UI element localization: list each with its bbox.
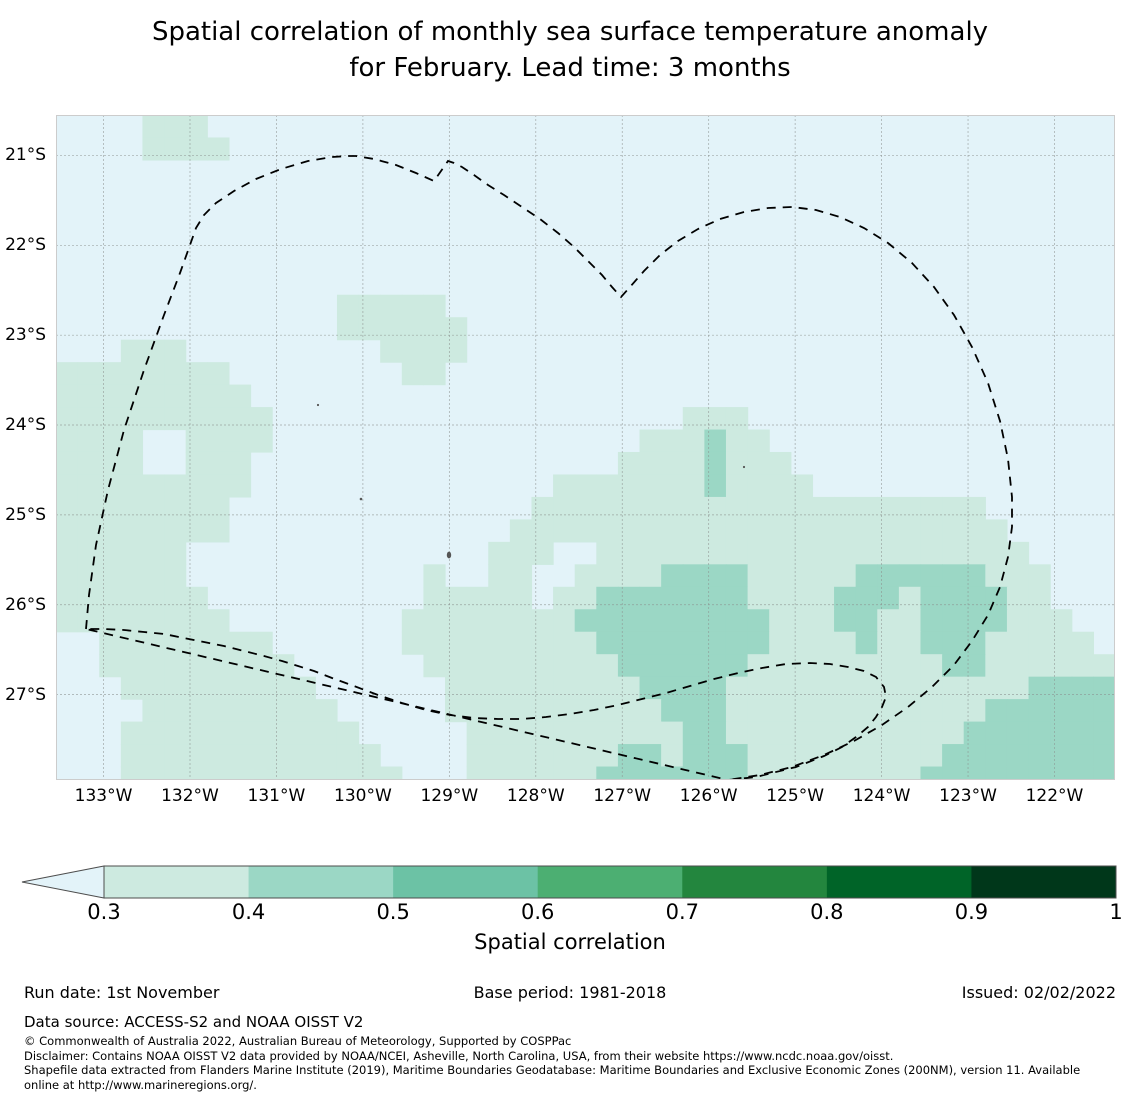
heatmap-cell xyxy=(812,609,834,632)
heatmap-cell xyxy=(380,317,402,340)
heatmap-cell xyxy=(337,317,359,340)
heatmap-cell xyxy=(423,317,445,340)
heatmap-cell xyxy=(769,497,791,520)
heatmap-cell xyxy=(920,564,942,587)
heatmap-cell xyxy=(553,767,575,780)
heatmap-cell xyxy=(531,497,553,520)
heatmap-cell xyxy=(1007,632,1029,655)
heatmap-cell xyxy=(423,564,445,587)
heatmap-cell xyxy=(791,677,813,700)
heatmap-cell xyxy=(726,430,748,453)
heatmap-cell xyxy=(56,519,78,542)
heatmap-cell xyxy=(575,632,597,655)
heatmap-cell xyxy=(142,564,164,587)
heatmap-cell xyxy=(121,430,143,453)
heatmap-cell xyxy=(531,609,553,632)
heatmap-cell xyxy=(1007,744,1029,767)
colorbar-extend-min-arrow xyxy=(22,866,104,898)
heatmap-cell xyxy=(359,767,381,780)
colorbar-band xyxy=(104,866,249,898)
heatmap-cell xyxy=(661,452,683,475)
heatmap-cell xyxy=(575,474,597,497)
heatmap-cell xyxy=(294,744,316,767)
heatmap-cell xyxy=(877,587,899,610)
y-tick-label: 22°S xyxy=(5,235,46,255)
heatmap-cell xyxy=(402,632,424,655)
heatmap-cell xyxy=(856,564,878,587)
heatmap-cell xyxy=(142,407,164,430)
heatmap-cell xyxy=(531,542,553,565)
heatmap-cell xyxy=(640,564,662,587)
heatmap-cell xyxy=(964,677,986,700)
heatmap-cell xyxy=(207,632,229,655)
heatmap-cell xyxy=(251,632,273,655)
heatmap-cell xyxy=(56,497,78,520)
heatmap-cell xyxy=(402,362,424,385)
heatmap-cell xyxy=(748,497,770,520)
heatmap-cell xyxy=(985,744,1007,767)
heatmap-cell xyxy=(985,587,1007,610)
heatmap-cell xyxy=(704,744,726,767)
heatmap-cell xyxy=(510,587,532,610)
heatmap-cell xyxy=(661,699,683,722)
heatmap-cell xyxy=(964,767,986,780)
heatmap-cell xyxy=(834,699,856,722)
colorbar-svg xyxy=(0,862,1140,902)
heatmap-cell xyxy=(726,744,748,767)
heatmap-cell xyxy=(704,677,726,700)
heatmap-cell xyxy=(531,767,553,780)
heatmap-cell xyxy=(748,722,770,745)
heatmap-cell xyxy=(445,587,467,610)
heatmap-cell xyxy=(1072,654,1094,677)
heatmap-cell xyxy=(704,699,726,722)
heatmap-cell xyxy=(142,767,164,780)
heatmap-cell xyxy=(575,654,597,677)
heatmap-cell xyxy=(985,654,1007,677)
heatmap-cell xyxy=(856,767,878,780)
heatmap-cell xyxy=(985,722,1007,745)
heatmap-cell xyxy=(164,362,186,385)
heatmap-cell xyxy=(207,654,229,677)
heatmap-cell xyxy=(164,609,186,632)
heatmap-cell xyxy=(920,654,942,677)
heatmap-cell xyxy=(488,542,510,565)
heatmap-cell xyxy=(186,767,208,780)
heatmap-cell xyxy=(683,677,705,700)
heatmap-cell xyxy=(618,497,640,520)
heatmap-cell xyxy=(596,632,618,655)
heatmap-cell xyxy=(251,744,273,767)
heatmap-cell xyxy=(121,452,143,475)
heatmap-cell xyxy=(78,385,100,408)
heatmap-cell xyxy=(272,722,294,745)
heatmap-cell xyxy=(531,654,553,677)
heatmap-cell xyxy=(553,699,575,722)
heatmap-cell xyxy=(856,587,878,610)
heatmap-cell xyxy=(942,632,964,655)
heatmap-cell xyxy=(683,654,705,677)
heatmap-cell xyxy=(315,722,337,745)
heatmap-cell xyxy=(1007,699,1029,722)
heatmap-cell xyxy=(964,587,986,610)
heatmap-cell xyxy=(56,385,78,408)
heatmap-cell xyxy=(164,767,186,780)
colorbar-band xyxy=(393,866,538,898)
heatmap-cell xyxy=(1050,632,1072,655)
heatmap-cell xyxy=(856,542,878,565)
heatmap-cell xyxy=(812,564,834,587)
heatmap-cell xyxy=(251,677,273,700)
heatmap-cell xyxy=(1093,654,1115,677)
heatmap-cell xyxy=(142,362,164,385)
x-tick-label: 125°W xyxy=(766,786,824,806)
heatmap-cell xyxy=(618,722,640,745)
heatmap-cell xyxy=(531,744,553,767)
heatmap-cell xyxy=(164,744,186,767)
heatmap-cell xyxy=(294,699,316,722)
heatmap-cell xyxy=(164,474,186,497)
x-tick-label: 130°W xyxy=(334,786,392,806)
heatmap-cell xyxy=(834,744,856,767)
title-line-1: Spatial correlation of monthly sea surfa… xyxy=(0,14,1140,50)
heatmap-cell xyxy=(121,744,143,767)
heatmap-cell xyxy=(920,632,942,655)
heatmap-cell xyxy=(683,587,705,610)
heatmap-cell xyxy=(791,654,813,677)
heatmap-cell xyxy=(596,654,618,677)
heatmap-cell xyxy=(121,564,143,587)
x-tick-label: 129°W xyxy=(420,786,478,806)
heatmap-cell xyxy=(445,317,467,340)
heatmap-cell xyxy=(164,519,186,542)
heatmap-cell xyxy=(56,587,78,610)
heatmap-cell xyxy=(186,587,208,610)
heatmap-cell xyxy=(488,564,510,587)
heatmap-cell xyxy=(78,407,100,430)
heatmap-cell xyxy=(769,677,791,700)
colorbar-tick-labels: 0.30.40.50.60.70.80.91 xyxy=(0,900,1140,926)
heatmap-cell xyxy=(142,632,164,655)
heatmap-cell xyxy=(899,609,921,632)
heatmap-cell xyxy=(748,699,770,722)
heatmap-cell xyxy=(337,767,359,780)
heatmap-cell xyxy=(920,677,942,700)
heatmap-cell xyxy=(920,587,942,610)
heatmap-cell xyxy=(186,744,208,767)
heatmap-cell xyxy=(445,654,467,677)
heatmap-cell xyxy=(964,722,986,745)
heatmap-cell xyxy=(769,564,791,587)
heatmap-cell xyxy=(510,519,532,542)
heatmap-cell xyxy=(229,677,251,700)
heatmap-cell xyxy=(618,542,640,565)
x-tick-label: 127°W xyxy=(593,786,651,806)
heatmap-cell xyxy=(596,699,618,722)
island-dot xyxy=(743,466,745,468)
heatmap-cell xyxy=(661,632,683,655)
heatmap-cell xyxy=(964,744,986,767)
heatmap-cell xyxy=(942,744,964,767)
colorbar-tick: 0.3 xyxy=(87,900,120,924)
heatmap-cell xyxy=(229,407,251,430)
heatmap-cell xyxy=(121,587,143,610)
heatmap-cell xyxy=(834,542,856,565)
heatmap-cell xyxy=(207,474,229,497)
heatmap-cell xyxy=(380,295,402,318)
heatmap-cell xyxy=(942,564,964,587)
heatmap-cell xyxy=(640,632,662,655)
heatmap-cell xyxy=(683,542,705,565)
heatmap-cell xyxy=(748,564,770,587)
heatmap-cell xyxy=(229,744,251,767)
heatmap-cell xyxy=(229,722,251,745)
heatmap-cell xyxy=(1050,677,1072,700)
colorbar-tick: 0.5 xyxy=(376,900,409,924)
heatmap-cell xyxy=(618,587,640,610)
heatmap-cell xyxy=(596,767,618,780)
heatmap-cell xyxy=(877,519,899,542)
heatmap-cell xyxy=(640,654,662,677)
heatmap-cell xyxy=(251,407,273,430)
heatmap-cell xyxy=(791,587,813,610)
heatmap-cell xyxy=(251,699,273,722)
heatmap-cell xyxy=(1072,767,1094,780)
heatmap-cell xyxy=(1007,564,1029,587)
heatmap-cell xyxy=(99,362,121,385)
heatmap-cell xyxy=(186,115,208,138)
heatmap-cell xyxy=(251,767,273,780)
heatmap-cell xyxy=(359,295,381,318)
heatmap-cell xyxy=(769,542,791,565)
heatmap-cell xyxy=(726,699,748,722)
heatmap-cell xyxy=(834,564,856,587)
heatmap-cell xyxy=(596,677,618,700)
map-plot-area xyxy=(56,115,1115,780)
heatmap-cell xyxy=(877,609,899,632)
heatmap-cell xyxy=(661,474,683,497)
heatmap-cell xyxy=(1029,699,1051,722)
heatmap-cell xyxy=(618,519,640,542)
heatmap-cell xyxy=(553,654,575,677)
heatmap-cell xyxy=(640,542,662,565)
colorbar-tick: 0.9 xyxy=(955,900,988,924)
heatmap-cell xyxy=(142,699,164,722)
heatmap-cell xyxy=(510,677,532,700)
heatmap-cell xyxy=(1007,677,1029,700)
heatmap-cell xyxy=(359,317,381,340)
heatmap-cell xyxy=(1050,744,1072,767)
heatmap-cell xyxy=(553,519,575,542)
heatmap-cell xyxy=(596,722,618,745)
heatmap-cell xyxy=(899,722,921,745)
colorbar-band xyxy=(971,866,1116,898)
heatmap-cell xyxy=(121,542,143,565)
heatmap-cell xyxy=(1093,722,1115,745)
heatmap-cell xyxy=(186,430,208,453)
heatmap-cell xyxy=(899,677,921,700)
x-tick-label: 123°W xyxy=(939,786,997,806)
heatmap-cell xyxy=(769,744,791,767)
heatmap-cell xyxy=(99,564,121,587)
heatmap-cell xyxy=(920,722,942,745)
colorbar-title: Spatial correlation xyxy=(0,930,1140,954)
heatmap-cell xyxy=(78,564,100,587)
heatmap-cell xyxy=(726,564,748,587)
heatmap-cell xyxy=(164,340,186,363)
heatmap-cell xyxy=(704,474,726,497)
heatmap-cell xyxy=(56,407,78,430)
heatmap-cell xyxy=(812,677,834,700)
heatmap-cell xyxy=(164,564,186,587)
heatmap-cell xyxy=(99,385,121,408)
heatmap-cell xyxy=(812,519,834,542)
heatmap-cell xyxy=(791,542,813,565)
heatmap-cell xyxy=(207,767,229,780)
heatmap-cell xyxy=(207,407,229,430)
heatmap-cell xyxy=(899,744,921,767)
heatmap-cell xyxy=(575,587,597,610)
heatmap-cell xyxy=(899,519,921,542)
heatmap-cell xyxy=(99,654,121,677)
heatmap-cell xyxy=(553,474,575,497)
y-tick-label: 24°S xyxy=(5,415,46,435)
colorbar-tick: 1 xyxy=(1109,900,1122,924)
heatmap-cell xyxy=(618,609,640,632)
heatmap-cell xyxy=(877,654,899,677)
heatmap-cell xyxy=(467,654,489,677)
heatmap-cell xyxy=(56,474,78,497)
issued-date: Issued: 02/02/2022 xyxy=(962,983,1116,1002)
heatmap-cell xyxy=(142,519,164,542)
heatmap-cell xyxy=(164,407,186,430)
heatmap-cell xyxy=(207,362,229,385)
heatmap-cell xyxy=(683,407,705,430)
heatmap-cell xyxy=(985,699,1007,722)
heatmap-cell xyxy=(251,430,273,453)
colorbar-band xyxy=(538,866,683,898)
copyright-line: © Commonwealth of Australia 2022, Austra… xyxy=(24,1034,1124,1049)
heatmap-cell xyxy=(445,609,467,632)
heatmap-cell xyxy=(704,452,726,475)
heatmap-cell xyxy=(294,722,316,745)
heatmap-cell xyxy=(207,137,229,160)
heatmap-cell xyxy=(942,587,964,610)
heatmap-cell xyxy=(1093,699,1115,722)
heatmap-cell xyxy=(99,474,121,497)
heatmap-cell xyxy=(834,497,856,520)
heatmap-cell xyxy=(791,632,813,655)
heatmap-cell xyxy=(769,699,791,722)
heatmap-cell xyxy=(186,362,208,385)
y-axis-labels: 21°S22°S23°S24°S25°S26°S27°S xyxy=(0,115,52,780)
heatmap-cell xyxy=(899,587,921,610)
heatmap-cell xyxy=(683,722,705,745)
heatmap-cell xyxy=(812,587,834,610)
heatmap-cell xyxy=(920,744,942,767)
heatmap-cell xyxy=(661,767,683,780)
heatmap-cell xyxy=(661,519,683,542)
heatmap-cell xyxy=(942,519,964,542)
heatmap-cell xyxy=(531,519,553,542)
heatmap-cell xyxy=(531,632,553,655)
heatmap-cell xyxy=(229,699,251,722)
heatmap-cell xyxy=(553,609,575,632)
heatmap-cell xyxy=(142,609,164,632)
heatmap-cell xyxy=(121,654,143,677)
heatmap-cell xyxy=(683,474,705,497)
heatmap-cell xyxy=(856,654,878,677)
heatmap-cell xyxy=(834,767,856,780)
heatmap-cell xyxy=(942,699,964,722)
heatmap-cell xyxy=(186,519,208,542)
heatmap-cell xyxy=(337,295,359,318)
heatmap-cell xyxy=(142,542,164,565)
heatmap-cell xyxy=(445,632,467,655)
heatmap-cell xyxy=(964,497,986,520)
heatmap-cell xyxy=(1072,744,1094,767)
heatmap-cell xyxy=(1007,587,1029,610)
heatmap-cell xyxy=(942,767,964,780)
heatmap-cell xyxy=(726,722,748,745)
heatmap-cell xyxy=(985,609,1007,632)
heatmap-cell xyxy=(985,767,1007,780)
heatmap-cell xyxy=(856,497,878,520)
heatmap-cell xyxy=(985,564,1007,587)
heatmap-cell xyxy=(186,677,208,700)
heatmap-cell xyxy=(186,407,208,430)
heatmap-cell xyxy=(942,497,964,520)
heatmap-cell xyxy=(1029,654,1051,677)
heatmap-cell xyxy=(834,519,856,542)
heatmap-cell xyxy=(618,564,640,587)
heatmap-cell xyxy=(877,722,899,745)
heatmap-cell xyxy=(856,609,878,632)
heatmap-cell xyxy=(683,744,705,767)
heatmap-cell xyxy=(877,699,899,722)
heatmap-cell xyxy=(899,497,921,520)
heatmap-cell xyxy=(229,430,251,453)
heatmap-cell xyxy=(553,497,575,520)
heatmap-cell xyxy=(726,632,748,655)
heatmap-cell xyxy=(618,632,640,655)
heatmap-cell xyxy=(142,497,164,520)
heatmap-cell xyxy=(704,542,726,565)
heatmap-cell xyxy=(272,699,294,722)
heatmap-cell xyxy=(661,744,683,767)
heatmap-cell xyxy=(142,385,164,408)
heatmap-cell xyxy=(207,677,229,700)
heatmap-cell xyxy=(56,542,78,565)
heatmap-cell xyxy=(229,452,251,475)
heatmap-cell xyxy=(142,115,164,138)
colorbar-band xyxy=(249,866,394,898)
colorbar-band xyxy=(682,866,827,898)
colorbar-tick: 0.7 xyxy=(666,900,699,924)
heatmap-cell xyxy=(726,677,748,700)
island-dot xyxy=(317,404,319,406)
heatmap-cell xyxy=(142,677,164,700)
heatmap-cell xyxy=(251,722,273,745)
heatmap-cell xyxy=(683,564,705,587)
heatmap-cell xyxy=(640,609,662,632)
heatmap-cell xyxy=(1072,677,1094,700)
heatmap-cell xyxy=(791,474,813,497)
heatmap-cell xyxy=(553,632,575,655)
heatmap-cell xyxy=(402,295,424,318)
heatmap-cell xyxy=(942,722,964,745)
heatmap-cell xyxy=(186,722,208,745)
